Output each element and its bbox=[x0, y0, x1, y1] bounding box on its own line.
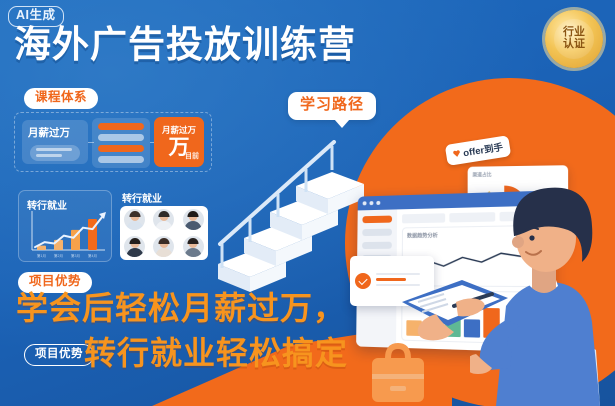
check-icon bbox=[355, 273, 371, 289]
course-card-middle bbox=[92, 118, 150, 168]
avatar-grid bbox=[120, 206, 208, 260]
sidebar-item[interactable] bbox=[362, 229, 392, 236]
headline-line-2: 转行就业轻松搞定 bbox=[84, 337, 348, 369]
course-card-left-title: 月薪过万 bbox=[28, 125, 70, 140]
page-title: 海外广告投放训练营 bbox=[14, 26, 356, 63]
learning-path-bubble: 学习路径 bbox=[288, 92, 376, 120]
svg-text:第4月: 第4月 bbox=[88, 253, 97, 258]
avatar bbox=[124, 236, 145, 257]
avatar bbox=[183, 209, 204, 230]
career-chart-card: 转行就业 第1月第2月第3月第4月 bbox=[18, 190, 112, 262]
avatar bbox=[153, 209, 174, 230]
career-people-title: 转行就业 bbox=[122, 190, 162, 205]
course-right-top: 月薪过万 bbox=[162, 126, 196, 135]
tablet-illustration bbox=[396, 268, 511, 346]
sidebar-item[interactable] bbox=[362, 216, 392, 224]
course-card-right: 月薪过万 万 目前 bbox=[154, 117, 204, 167]
course-right-tiny: 目前 bbox=[185, 151, 199, 161]
label-course-system: 课程体系 bbox=[24, 88, 98, 109]
svg-text:第1月: 第1月 bbox=[37, 253, 46, 258]
avatar bbox=[183, 236, 204, 257]
bag-illustration bbox=[352, 336, 442, 406]
sidebar-item[interactable] bbox=[362, 242, 392, 249]
window-dot-icon bbox=[369, 201, 373, 205]
window-dot-icon bbox=[363, 201, 367, 205]
course-card-left-sub bbox=[30, 145, 80, 161]
certification-inner: 行业 认证 bbox=[554, 19, 594, 59]
career-people-card: 转行就业 bbox=[120, 190, 208, 260]
certification-line2: 认证 bbox=[563, 39, 585, 51]
poster-canvas: AI生成 海外广告投放训练营 行业 认证 课程体系 月薪过万 月薪过万 万 目前… bbox=[0, 0, 615, 406]
svg-text:第2月: 第2月 bbox=[54, 253, 63, 258]
window-dot-icon bbox=[376, 201, 380, 205]
heart-icon bbox=[453, 149, 461, 157]
certification-badge: 行业 认证 bbox=[545, 10, 603, 68]
career-bar-chart: 第1月第2月第3月第4月 bbox=[23, 209, 109, 259]
avatar bbox=[124, 209, 145, 230]
avatar bbox=[153, 236, 174, 257]
svg-text:第3月: 第3月 bbox=[71, 253, 80, 258]
